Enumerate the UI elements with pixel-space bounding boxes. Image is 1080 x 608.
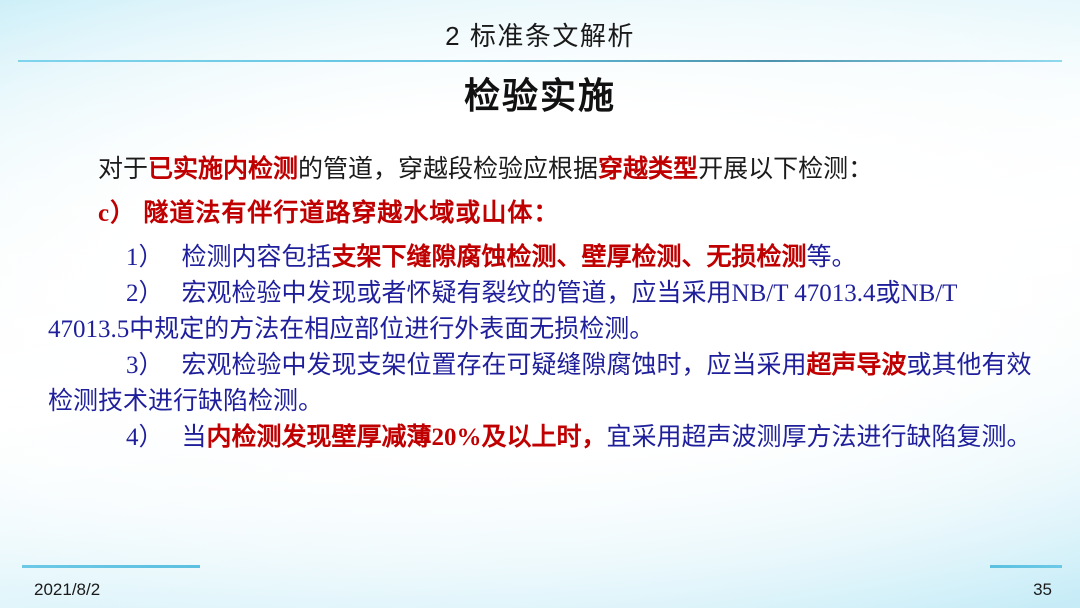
- footer-divider-left: [22, 565, 200, 568]
- intro-seg-1: 对于: [98, 156, 148, 183]
- list-item-4: 4）当内检测发现壁厚减薄20%及以上时，宜采用超声波测厚方法进行缺陷复测。: [48, 420, 1032, 456]
- intro-seg-5: 开展以下检测：: [698, 156, 873, 183]
- list-item-2-seg-1: 宏观检验中发现或者怀疑有裂纹的管道，应当采用NB/T 47013.4或NB/T …: [48, 280, 957, 343]
- header-divider: [18, 60, 1062, 62]
- list-item-2: 2）宏观检验中发现或者怀疑有裂纹的管道，应当采用NB/T 47013.4或NB/…: [48, 276, 1032, 348]
- list-item-4-number: 4）: [126, 424, 164, 451]
- list-item-4-highlight: 内检测发现壁厚减薄20%及以上时，: [207, 424, 607, 451]
- intro-seg-4-highlight: 穿越类型: [598, 156, 698, 183]
- intro-seg-2-highlight: 已实施内检测: [148, 156, 298, 183]
- header-title: 2 标准条文解析: [0, 16, 1080, 53]
- intro-seg-3: 的管道，穿越段检验应根据: [298, 156, 598, 183]
- clause-c-heading: c） 隧道法有伴行道路穿越水域或山体：: [48, 196, 1032, 232]
- list-item-1-seg-3: 等。: [807, 244, 857, 271]
- slide: 2 标准条文解析 检验实施 对于已实施内检测的管道，穿越段检验应根据穿越类型开展…: [0, 0, 1080, 608]
- list-item-1: 1）检测内容包括支架下缝隙腐蚀检测、壁厚检测、无损检测等。: [48, 240, 1032, 276]
- footer-date: 2021/8/2: [34, 580, 100, 600]
- list-item-3-number: 3）: [126, 352, 164, 379]
- list-item-3-seg-1: 宏观检验中发现支架位置存在可疑缝隙腐蚀时，应当采用: [182, 352, 807, 379]
- list-item-1-seg-1: 检测内容包括: [182, 244, 332, 271]
- list-item-4-seg-3: 宜采用超声波测厚方法进行缺陷复测。: [607, 424, 1032, 451]
- list-item-1-highlight: 支架下缝隙腐蚀检测、壁厚检测、无损检测: [332, 244, 807, 271]
- list-item-3: 3）宏观检验中发现支架位置存在可疑缝隙腐蚀时，应当采用超声导波或其他有效检测技术…: [48, 348, 1032, 420]
- list-item-1-number: 1）: [126, 244, 164, 271]
- list-item-4-seg-1: 当: [182, 424, 207, 451]
- intro-paragraph: 对于已实施内检测的管道，穿越段检验应根据穿越类型开展以下检测：: [48, 152, 1032, 188]
- slide-body: 对于已实施内检测的管道，穿越段检验应根据穿越类型开展以下检测： c） 隧道法有伴…: [48, 152, 1032, 456]
- footer-divider-right: [990, 565, 1062, 568]
- slide-subtitle: 检验实施: [0, 67, 1080, 119]
- list-item-3-highlight: 超声导波: [807, 352, 907, 379]
- footer-page-number: 35: [1033, 580, 1052, 600]
- list-item-2-number: 2）: [126, 280, 164, 307]
